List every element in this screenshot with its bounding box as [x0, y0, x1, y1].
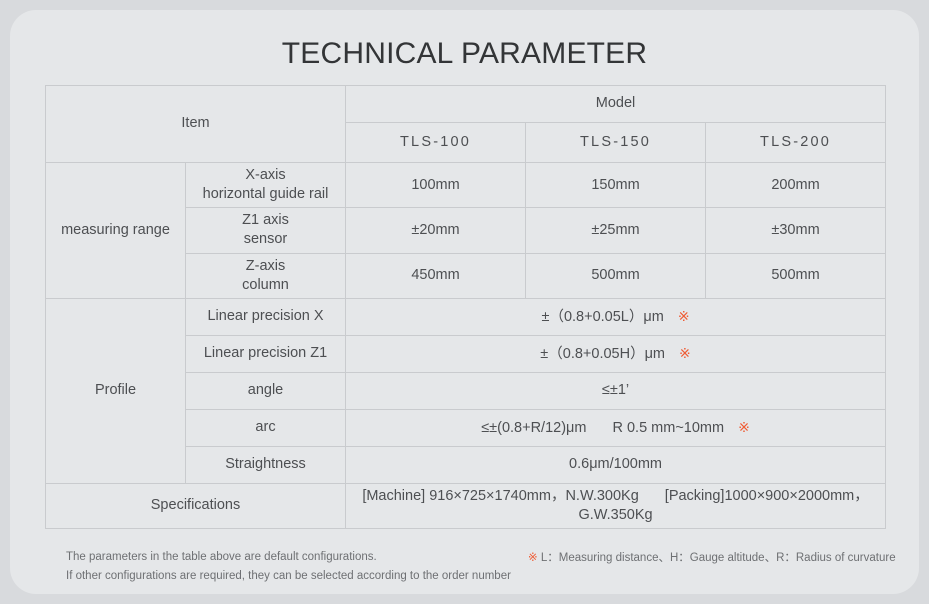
cell-value: ±25mm: [526, 208, 706, 253]
footer-note-line-2: If other configurations are required, th…: [66, 567, 511, 586]
group-measuring-range: measuring range: [46, 163, 186, 299]
cell-value: 500mm: [706, 253, 886, 298]
table-row: Profile Linear precision X ±（0.8+0.05L）μ…: [46, 298, 886, 335]
cell-value: ±30mm: [706, 208, 886, 253]
cell-value: 100mm: [346, 163, 526, 208]
cell-value-text: ±（0.8+0.05H）μm: [540, 346, 665, 362]
cell-value: 0.6μm/100mm: [346, 446, 886, 483]
cell-value: ≤±1’: [346, 372, 886, 409]
group-specifications: Specifications: [46, 483, 346, 528]
subitem-linear-precision-x: Linear precision X: [186, 298, 346, 335]
subitem-straightness: Straightness: [186, 446, 346, 483]
cell-value-text-2: R 0.5 mm~10mm: [612, 420, 724, 436]
subitem-line-1: Z-axis: [246, 258, 285, 274]
cell-value-text: ±（0.8+0.05L）μm: [542, 309, 664, 325]
table-row: Specifications [Machine] 916×725×1740mm，…: [46, 483, 886, 528]
cell-value: 450mm: [346, 253, 526, 298]
cell-value: ≤±(0.8+R/12)μmR 0.5 mm~10mm※: [346, 409, 886, 446]
subitem-linear-precision-z1: Linear precision Z1: [186, 335, 346, 372]
header-item: Item: [46, 86, 346, 163]
subitem-line-2: sensor: [244, 231, 288, 247]
spec-machine: [Machine] 916×725×1740mm，N.W.300Kg: [362, 488, 638, 504]
header-model: Model: [346, 86, 886, 123]
cell-value: ±（0.8+0.05L）μm※: [346, 298, 886, 335]
header-model-tls-150: TLS-150: [526, 123, 706, 163]
cell-value: ±20mm: [346, 208, 526, 253]
table-header-row-1: Item Model: [46, 86, 886, 123]
footer-legend-text: L：Measuring distance、H：Gauge altitude、R：…: [541, 552, 896, 564]
reference-mark-icon: ※: [528, 552, 538, 564]
subitem-x-axis: X-axis horizontal guide rail: [186, 163, 346, 208]
subitem-line-2: horizontal guide rail: [203, 186, 329, 202]
subitem-line-1: Z1 axis: [242, 212, 289, 228]
cell-value: ±（0.8+0.05H）μm※: [346, 335, 886, 372]
subitem-z1-axis: Z1 axis sensor: [186, 208, 346, 253]
cell-value: 150mm: [526, 163, 706, 208]
subitem-line-1: X-axis: [245, 167, 285, 183]
reference-mark-icon: ※: [678, 308, 690, 324]
group-profile: Profile: [46, 298, 186, 483]
table-row: measuring range X-axis horizontal guide …: [46, 163, 886, 208]
header-model-tls-100: TLS-100: [346, 123, 526, 163]
technical-parameter-table: Item Model TLS-100 TLS-150 TLS-200 measu…: [45, 85, 886, 529]
page-title: TECHNICAL PARAMETER: [10, 37, 919, 71]
reference-mark-icon: ※: [738, 419, 750, 435]
footer-note-line-1: The parameters in the table above are de…: [66, 548, 511, 567]
header-model-tls-200: TLS-200: [706, 123, 886, 163]
subitem-line-2: column: [242, 277, 289, 293]
cell-value: 200mm: [706, 163, 886, 208]
subitem-z-axis: Z-axis column: [186, 253, 346, 298]
footer-legend: ※ L：Measuring distance、H：Gauge altitude、…: [528, 549, 896, 565]
footer-note: The parameters in the table above are de…: [66, 548, 511, 585]
cell-value-text: ≤±(0.8+R/12)μm: [481, 420, 586, 436]
subitem-arc: arc: [186, 409, 346, 446]
cell-value: 500mm: [526, 253, 706, 298]
cell-value: [Machine] 916×725×1740mm，N.W.300Kg[Packi…: [346, 483, 886, 528]
parameter-card: TECHNICAL PARAMETER Item Model TLS-100 T…: [10, 10, 919, 594]
subitem-angle: angle: [186, 372, 346, 409]
reference-mark-icon: ※: [679, 345, 691, 361]
